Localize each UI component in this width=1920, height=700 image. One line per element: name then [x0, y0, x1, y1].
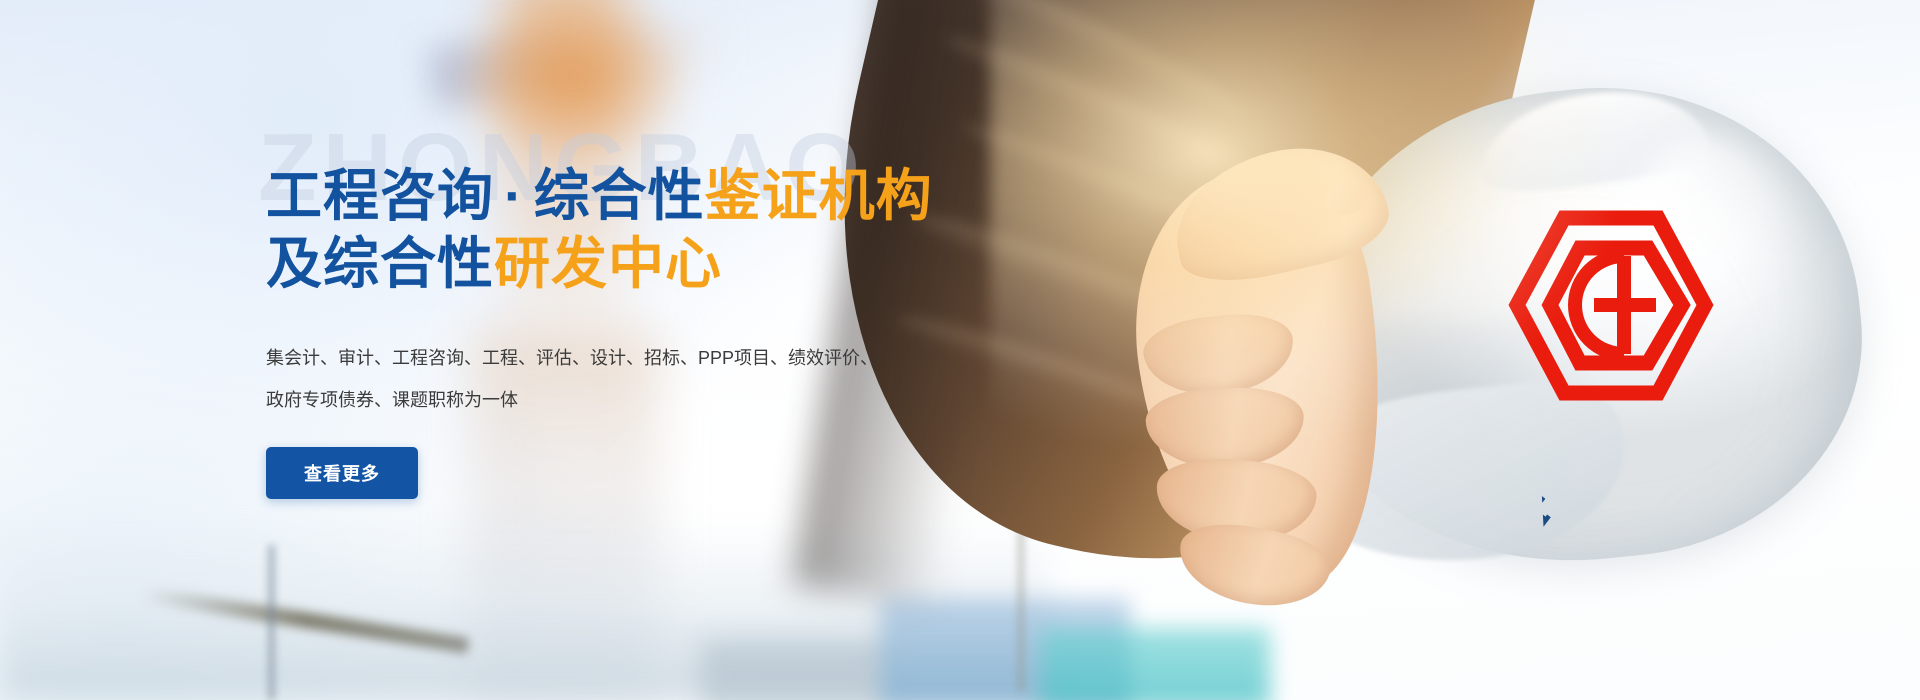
hero-copy: ZHONGBAO 工程咨询·综合性鉴证机构 及综合性研发中心 集会计、审计、工程…: [266, 120, 1026, 499]
photo-hand: [1150, 130, 1480, 600]
description-line-2: 政府专项债券、课题职称为一体: [266, 379, 906, 421]
view-more-button[interactable]: 查看更多: [266, 447, 418, 499]
headline-l1-part-2: 综合性: [534, 164, 705, 227]
hero-banner: 中宝工程管理: [0, 0, 1920, 700]
background-building-gray: [700, 640, 890, 700]
helmet-arc-text: 中宝工程管理: [1528, 206, 1875, 553]
headline-l1-separator: ·: [494, 164, 534, 227]
hero-headline: 工程咨询·综合性鉴证机构 及综合性研发中心: [266, 162, 1026, 299]
background-pole-left: [268, 545, 275, 700]
headline-line-2: 及综合性研发中心: [266, 230, 1026, 298]
helmet-branding: 中宝工程管理: [1506, 208, 1716, 403]
headline-l2-part-1: 及综合性: [266, 232, 494, 295]
headline-line-1: 工程咨询·综合性鉴证机构: [266, 162, 1026, 230]
background-building-teal: [1040, 628, 1270, 700]
headline-l2-part-2: 研发中心: [494, 232, 722, 295]
description-line-1: 集会计、审计、工程咨询、工程、评估、设计、招标、PPP项目、绩效评价、: [266, 337, 906, 379]
headline-l1-part-3: 鉴证机构: [705, 164, 933, 227]
hero-description: 集会计、审计、工程咨询、工程、评估、设计、招标、PPP项目、绩效评价、 政府专项…: [266, 337, 906, 422]
headline-l1-part-1: 工程咨询: [266, 164, 494, 227]
